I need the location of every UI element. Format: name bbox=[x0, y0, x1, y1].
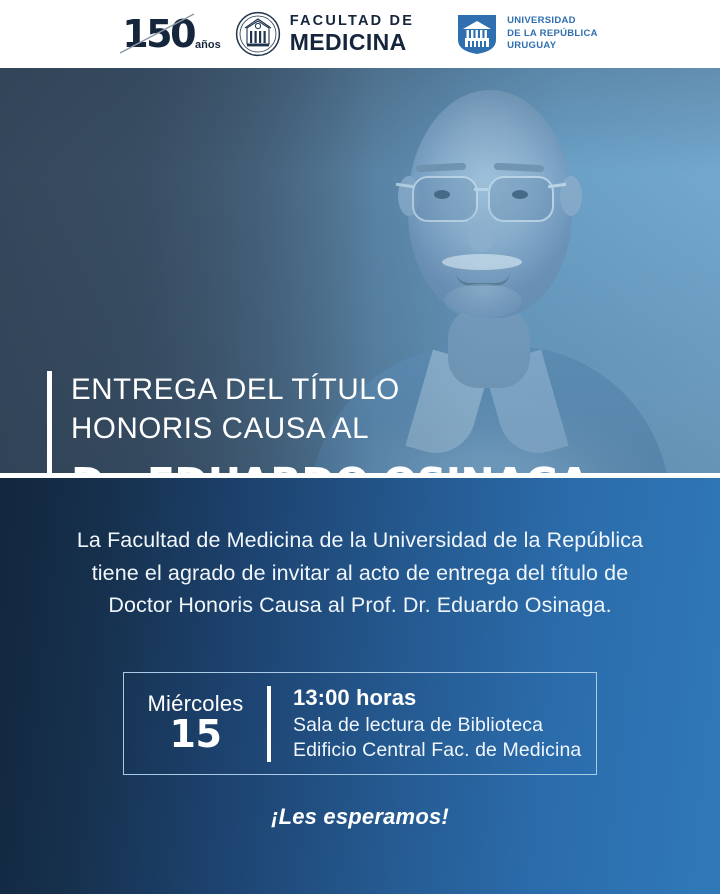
hero-title-line-1: ENTREGA DEL TÍTULO bbox=[71, 371, 589, 410]
university-line-2: DE LA REPÚBLICA bbox=[507, 28, 598, 41]
udelar-logo: UNIVERSIDAD DE LA REPÚBLICA URUGUAY bbox=[456, 13, 598, 55]
anniversary-word: años bbox=[195, 40, 221, 51]
udelar-shield-icon bbox=[456, 13, 498, 55]
facultad-medicina-wordmark: FACULTAD DE MEDICINA bbox=[290, 14, 414, 54]
header-logo-bar: 150 años FACULTAD DE MEDICI bbox=[0, 0, 720, 68]
university-line-3: URUGUAY bbox=[507, 40, 598, 53]
udelar-wordmark: UNIVERSIDAD DE LA REPÚBLICA URUGUAY bbox=[507, 15, 598, 53]
event-date-group: Miércoles 15 bbox=[124, 692, 267, 756]
invitation-poster: 150 años FACULTAD DE MEDICI bbox=[0, 0, 720, 894]
hero-title-texts: ENTREGA DEL TÍTULO HONORIS CAUSA AL Dr. … bbox=[71, 371, 589, 473]
logo-row: 150 años FACULTAD DE MEDICI bbox=[122, 11, 598, 57]
hero-photo-band: ENTREGA DEL TÍTULO HONORIS CAUSA AL Dr. … bbox=[0, 68, 720, 473]
details-panel: La Facultad de Medicina de la Universida… bbox=[0, 478, 720, 894]
title-accent-bar bbox=[47, 371, 52, 473]
event-box-divider bbox=[267, 686, 271, 762]
honoree-name: Dr. EDUARDO OSINAGA bbox=[71, 461, 589, 473]
event-venue-line-2: Edificio Central Fac. de Medicina bbox=[293, 738, 581, 763]
anniversary-number: 150 bbox=[122, 15, 194, 53]
facultad-medicina-seal bbox=[235, 11, 281, 57]
event-day-number: 15 bbox=[170, 715, 222, 755]
faculty-line-2: MEDICINA bbox=[290, 30, 414, 54]
anniversary-150-logo: 150 años bbox=[122, 15, 221, 53]
university-line-1: UNIVERSIDAD bbox=[507, 15, 598, 28]
event-time-venue-group: 13:00 horas Sala de lectura de Bibliotec… bbox=[293, 684, 581, 762]
hero-title-line-2: HONORIS CAUSA AL bbox=[71, 410, 589, 449]
invitation-paragraph: La Facultad de Medicina de la Universida… bbox=[60, 524, 660, 622]
hero-title-block: ENTREGA DEL TÍTULO HONORIS CAUSA AL Dr. … bbox=[47, 371, 589, 473]
faculty-line-1: FACULTAD DE bbox=[290, 14, 414, 30]
event-details-box: Miércoles 15 13:00 horas Sala de lectura… bbox=[123, 672, 597, 775]
event-venue-line-1: Sala de lectura de Biblioteca bbox=[293, 713, 581, 738]
closing-message: ¡Les esperamos! bbox=[0, 804, 720, 830]
event-time: 13:00 horas bbox=[293, 684, 581, 713]
